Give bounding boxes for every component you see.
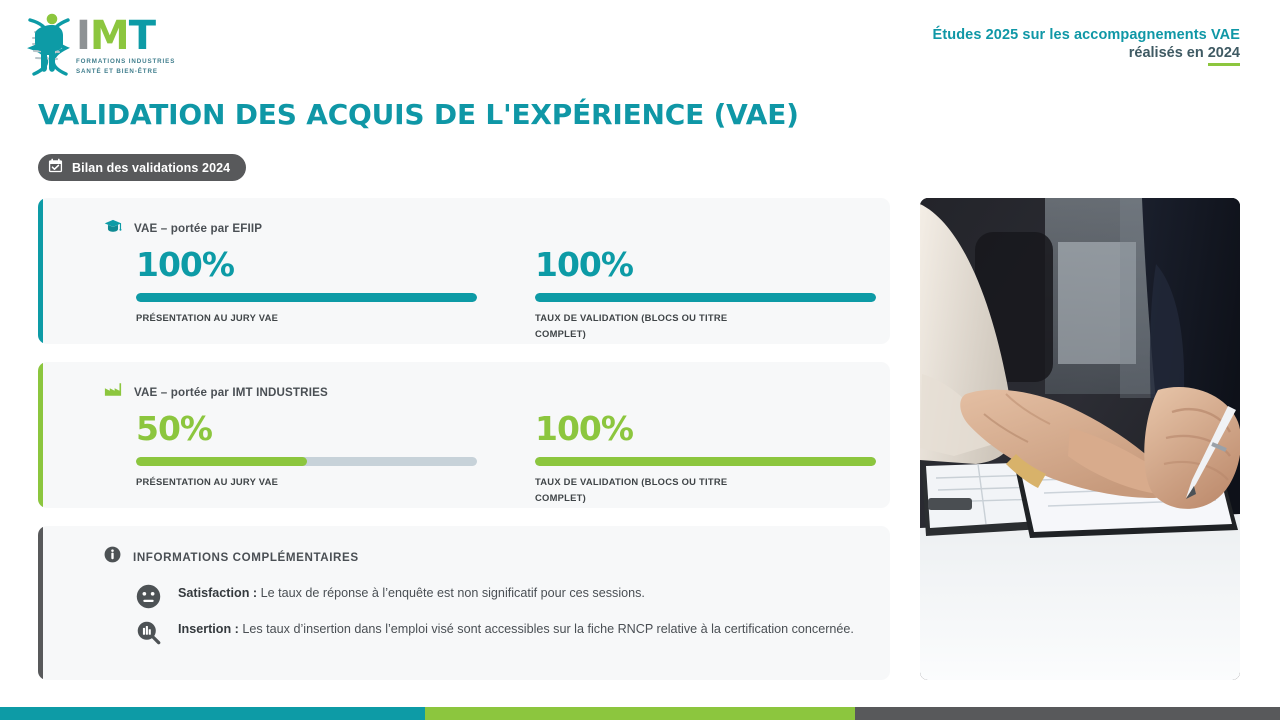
info-row-satisfaction-term: Satisfaction : [178, 586, 257, 600]
info-row-insertion-body: Les taux d’insertion dans l’emploi visé … [239, 622, 854, 636]
info-row-insertion-term: Insertion : [178, 622, 239, 636]
study-label-line2-prefix: réalisés en [1129, 45, 1208, 61]
metric-efiip-validation-value: 100% [535, 248, 876, 281]
card-imt-industries-header: VAE – portée par IMT INDUSTRIES [104, 382, 328, 402]
card-imt-industries-metrics: 50% PRÉSENTATION AU JURY VAE 100% TAUX D… [136, 412, 876, 505]
card-vae-imt-industries: VAE – portée par IMT INDUSTRIES 50% PRÉS… [38, 362, 890, 508]
metric-efiip-jury-bar-fill [136, 293, 477, 302]
metric-efiip-jury-bar-track [136, 293, 477, 302]
info-row-insertion-text: Insertion : Les taux d’insertion dans l’… [178, 618, 854, 640]
footer-color-bar [0, 707, 1280, 720]
footer-segment-green [425, 707, 855, 720]
info-row-satisfaction: Satisfaction : Le taux de réponse à l’en… [136, 582, 866, 618]
metric-imtind-validation-bar-fill [535, 457, 876, 466]
graduation-cap-icon [104, 218, 122, 239]
metric-imtind-jury-bar-track [136, 457, 477, 466]
chart-search-icon [136, 618, 164, 650]
study-label: Études 2025 sur les accompagnements VAE … [933, 26, 1240, 63]
metric-imtind-validation-bar-track [535, 457, 876, 466]
card-informations-complementaires: INFORMATIONS COMPLÉMENTAIRES Satisfactio… [38, 526, 890, 680]
metric-efiip-jury: 100% PRÉSENTATION AU JURY VAE [136, 248, 477, 341]
calendar-check-icon [48, 158, 63, 178]
footer-segment-teal [0, 707, 425, 720]
imt-wordmark-letters: IMT [76, 17, 155, 55]
info-circle-icon [104, 546, 121, 568]
card-info-header: INFORMATIONS COMPLÉMENTAIRES [104, 546, 359, 568]
logo-letter-m: M [90, 13, 129, 59]
section-pill-label: Bilan des validations 2024 [72, 161, 230, 175]
imt-logo-mark-icon [22, 10, 78, 82]
card-efiip-metrics: 100% PRÉSENTATION AU JURY VAE 100% TAUX … [136, 248, 876, 341]
card-efiip-title: VAE – portée par EFIIP [134, 222, 262, 235]
metric-imtind-validation-label: TAUX DE VALIDATION (BLOCS OU TITRE COMPL… [535, 474, 765, 505]
metric-imtind-jury-bar-fill [136, 457, 307, 466]
factory-icon [104, 382, 122, 402]
metric-efiip-validation: 100% TAUX DE VALIDATION (BLOCS OU TITRE … [535, 248, 876, 341]
footer-segment-gray [855, 707, 1280, 720]
metric-imtind-validation: 100% TAUX DE VALIDATION (BLOCS OU TITRE … [535, 412, 876, 505]
metric-imtind-jury-value: 50% [136, 412, 477, 445]
metric-efiip-jury-label: PRÉSENTATION AU JURY VAE [136, 310, 366, 326]
page-title: VALIDATION DES ACQUIS DE L'EXPÉRIENCE (V… [38, 98, 799, 131]
metric-efiip-validation-label: TAUX DE VALIDATION (BLOCS OU TITRE COMPL… [535, 310, 765, 341]
info-row-satisfaction-text: Satisfaction : Le taux de réponse à l’en… [178, 582, 645, 604]
metric-imtind-jury: 50% PRÉSENTATION AU JURY VAE [136, 412, 477, 505]
metric-efiip-validation-bar-fill [535, 293, 876, 302]
study-label-year: 2024 [1208, 45, 1240, 66]
card-vae-efiip: VAE – portée par EFIIP 100% PRÉSENTATION… [38, 198, 890, 344]
header: IMT FORMATIONS INDUSTRIES SANTÉ ET BIEN-… [0, 0, 1280, 90]
metric-efiip-validation-bar-track [535, 293, 876, 302]
study-label-line1: Études 2025 sur les accompagnements VAE [933, 26, 1240, 44]
card-efiip-header: VAE – portée par EFIIP [104, 218, 262, 239]
neutral-face-icon [136, 582, 164, 614]
card-imt-industries-title: VAE – portée par IMT INDUSTRIES [134, 386, 328, 399]
logo-letter-i: I [76, 13, 90, 59]
imt-logo: IMT FORMATIONS INDUSTRIES SANTÉ ET BIEN-… [22, 8, 202, 84]
study-label-line2: réalisés en 2024 [933, 44, 1240, 62]
info-row-satisfaction-body: Le taux de réponse à l’enquête est non s… [257, 586, 645, 600]
logo-tagline-line2: SANTÉ ET BIEN-ÊTRE [76, 67, 158, 77]
logo-letter-t: T [129, 13, 155, 59]
section-pill-bilan[interactable]: Bilan des validations 2024 [38, 154, 246, 181]
card-info-title: INFORMATIONS COMPLÉMENTAIRES [133, 551, 359, 564]
info-row-insertion: Insertion : Les taux d’insertion dans l’… [136, 618, 866, 654]
info-rows: Satisfaction : Le taux de réponse à l’en… [136, 582, 866, 654]
photo-vae-signature: Photo [920, 198, 1240, 680]
logo-tagline-line1: FORMATIONS INDUSTRIES [76, 57, 175, 67]
metric-efiip-jury-value: 100% [136, 248, 477, 281]
metric-imtind-validation-value: 100% [535, 412, 876, 445]
imt-logo-wordmark: IMT FORMATIONS INDUSTRIES SANTÉ ET BIEN-… [76, 15, 175, 76]
slide-root: IMT FORMATIONS INDUSTRIES SANTÉ ET BIEN-… [0, 0, 1280, 720]
metric-imtind-jury-label: PRÉSENTATION AU JURY VAE [136, 474, 366, 490]
